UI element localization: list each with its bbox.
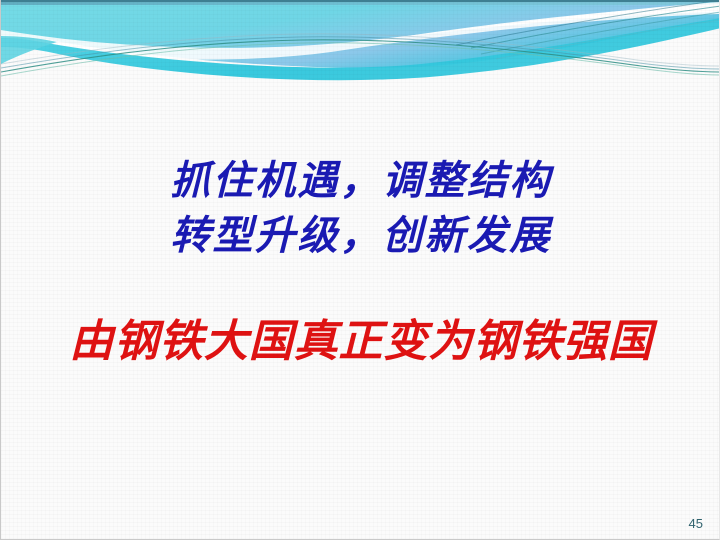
headline-line-1: 抓住机遇，调整结构: [1, 148, 720, 206]
headline-emphasis-line: 由钢铁大国真正变为钢铁强国: [1, 305, 720, 369]
headline-line-2: 转型升级，创新发展: [1, 203, 720, 261]
header-top-rule: [1, 0, 720, 2]
slide-page-number: 45: [689, 516, 703, 531]
slide-content: 抓住机遇，调整结构 转型升级，创新发展 由钢铁大国真正变为钢铁强国: [1, 0, 720, 540]
presentation-slide: 抓住机遇，调整结构 转型升级，创新发展 由钢铁大国真正变为钢铁强国 45: [0, 0, 720, 540]
